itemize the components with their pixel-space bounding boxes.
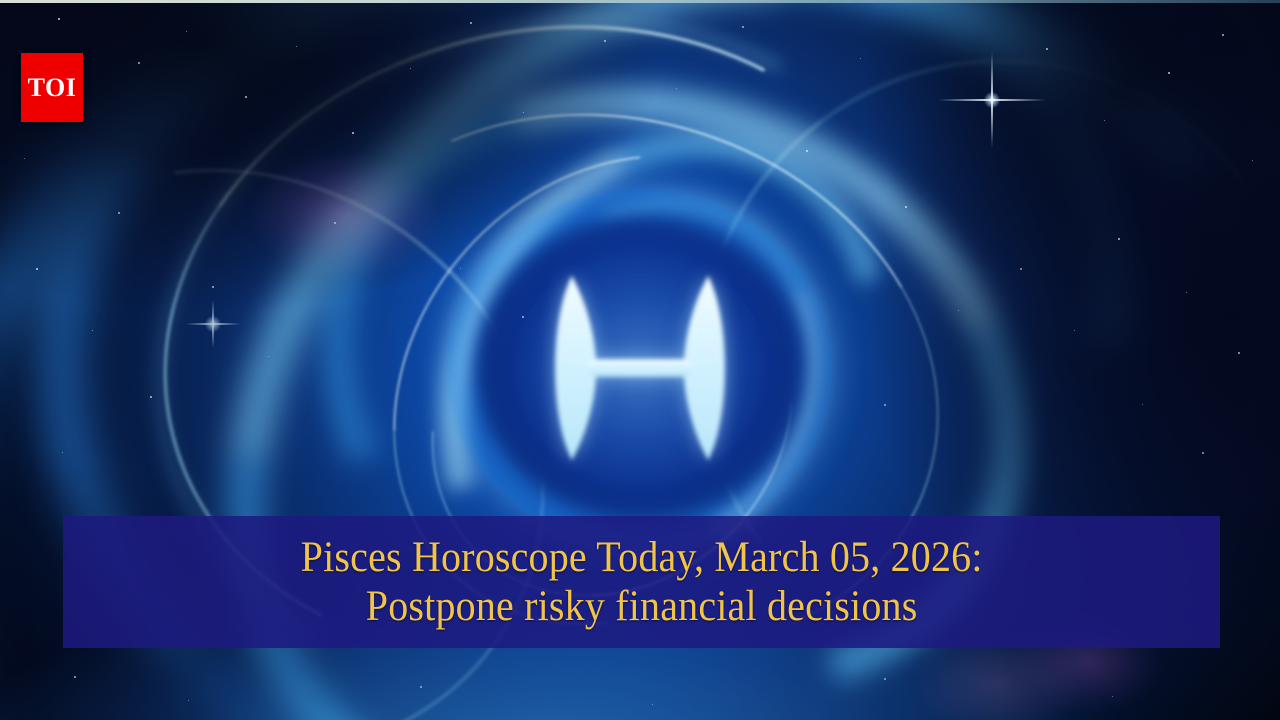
headline-title: Pisces Horoscope Today, March 05, 2026: … [288, 533, 996, 631]
toi-logo[interactable]: TOI [21, 53, 83, 122]
top-edge-strip [0, 0, 1280, 3]
video-thumbnail-card: TOI Pisces Horoscope Today, March 05, 20… [0, 0, 1280, 720]
pisces-symbol [530, 258, 750, 478]
toi-logo-text: TOI [28, 75, 77, 101]
title-banner: Pisces Horoscope Today, March 05, 2026: … [63, 516, 1220, 648]
